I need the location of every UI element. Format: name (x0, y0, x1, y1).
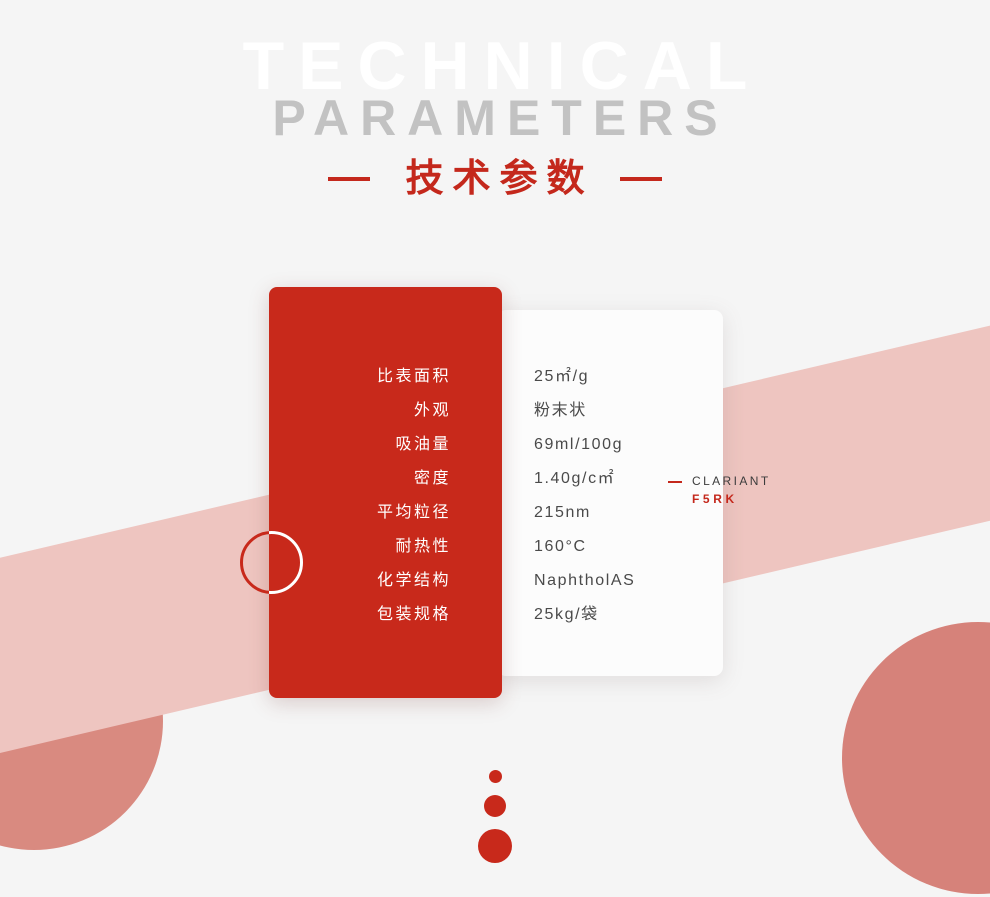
table-row: 外观 粉末状 (269, 396, 729, 430)
parameter-value: 160°C (534, 538, 587, 556)
parameter-label: 吸油量 (269, 430, 451, 454)
parameters-table: 比表面积 25㎡/g 外观 粉末状 吸油量 69ml/100g 密度 1.40g… (269, 362, 729, 634)
parameter-value: 1.40g/c㎡ (534, 464, 615, 488)
brand-tag: CLARIANT F5RK (668, 472, 771, 508)
dot-large-icon (478, 829, 512, 863)
heading-subtitle-row: 技术参数 (0, 160, 990, 198)
table-row: 包装规格 25kg/袋 (269, 600, 729, 634)
parameter-value: 69ml/100g (534, 436, 623, 454)
heading-subtitle-chinese: 技术参数 (396, 160, 593, 198)
parameter-label: 外观 (269, 396, 451, 420)
brand-dash-icon (668, 481, 682, 483)
brand-code: F5RK (692, 492, 738, 506)
parameter-label: 密度 (269, 464, 451, 488)
parameter-label: 平均粒径 (269, 498, 451, 522)
parameter-label: 包装规格 (269, 600, 451, 624)
heading-title-english-bottom: PARAMETERS (0, 93, 990, 143)
parameter-label: 化学结构 (269, 566, 451, 590)
table-row: 比表面积 25㎡/g (269, 362, 729, 396)
dash-right-icon (620, 177, 662, 181)
table-row: 吸油量 69ml/100g (269, 430, 729, 464)
dash-left-icon (328, 177, 370, 181)
table-row: 平均粒径 215nm (269, 498, 729, 532)
technical-parameters-page: TECHNICAL PARAMETERS 技术参数 比表面积 25㎡/g 外观 … (0, 0, 990, 897)
dot-small-icon (489, 770, 502, 783)
table-row: 耐热性 160°C (269, 532, 729, 566)
parameter-label: 耐热性 (269, 532, 451, 556)
parameter-value: 粉末状 (534, 396, 587, 420)
parameter-value: 25kg/袋 (534, 600, 599, 624)
parameter-value: 25㎡/g (534, 362, 589, 386)
parameter-value: 215nm (534, 504, 591, 522)
brand-text-group: CLARIANT F5RK (692, 472, 771, 508)
parameter-label: 比表面积 (269, 362, 451, 386)
table-row: 化学结构 NaphtholAS (269, 566, 729, 600)
parameter-value: NaphtholAS (534, 572, 635, 590)
table-row: 密度 1.40g/c㎡ (269, 464, 729, 498)
dot-medium-icon (484, 795, 506, 817)
bottom-dots-decoration (0, 770, 990, 863)
brand-name: CLARIANT (692, 474, 771, 488)
